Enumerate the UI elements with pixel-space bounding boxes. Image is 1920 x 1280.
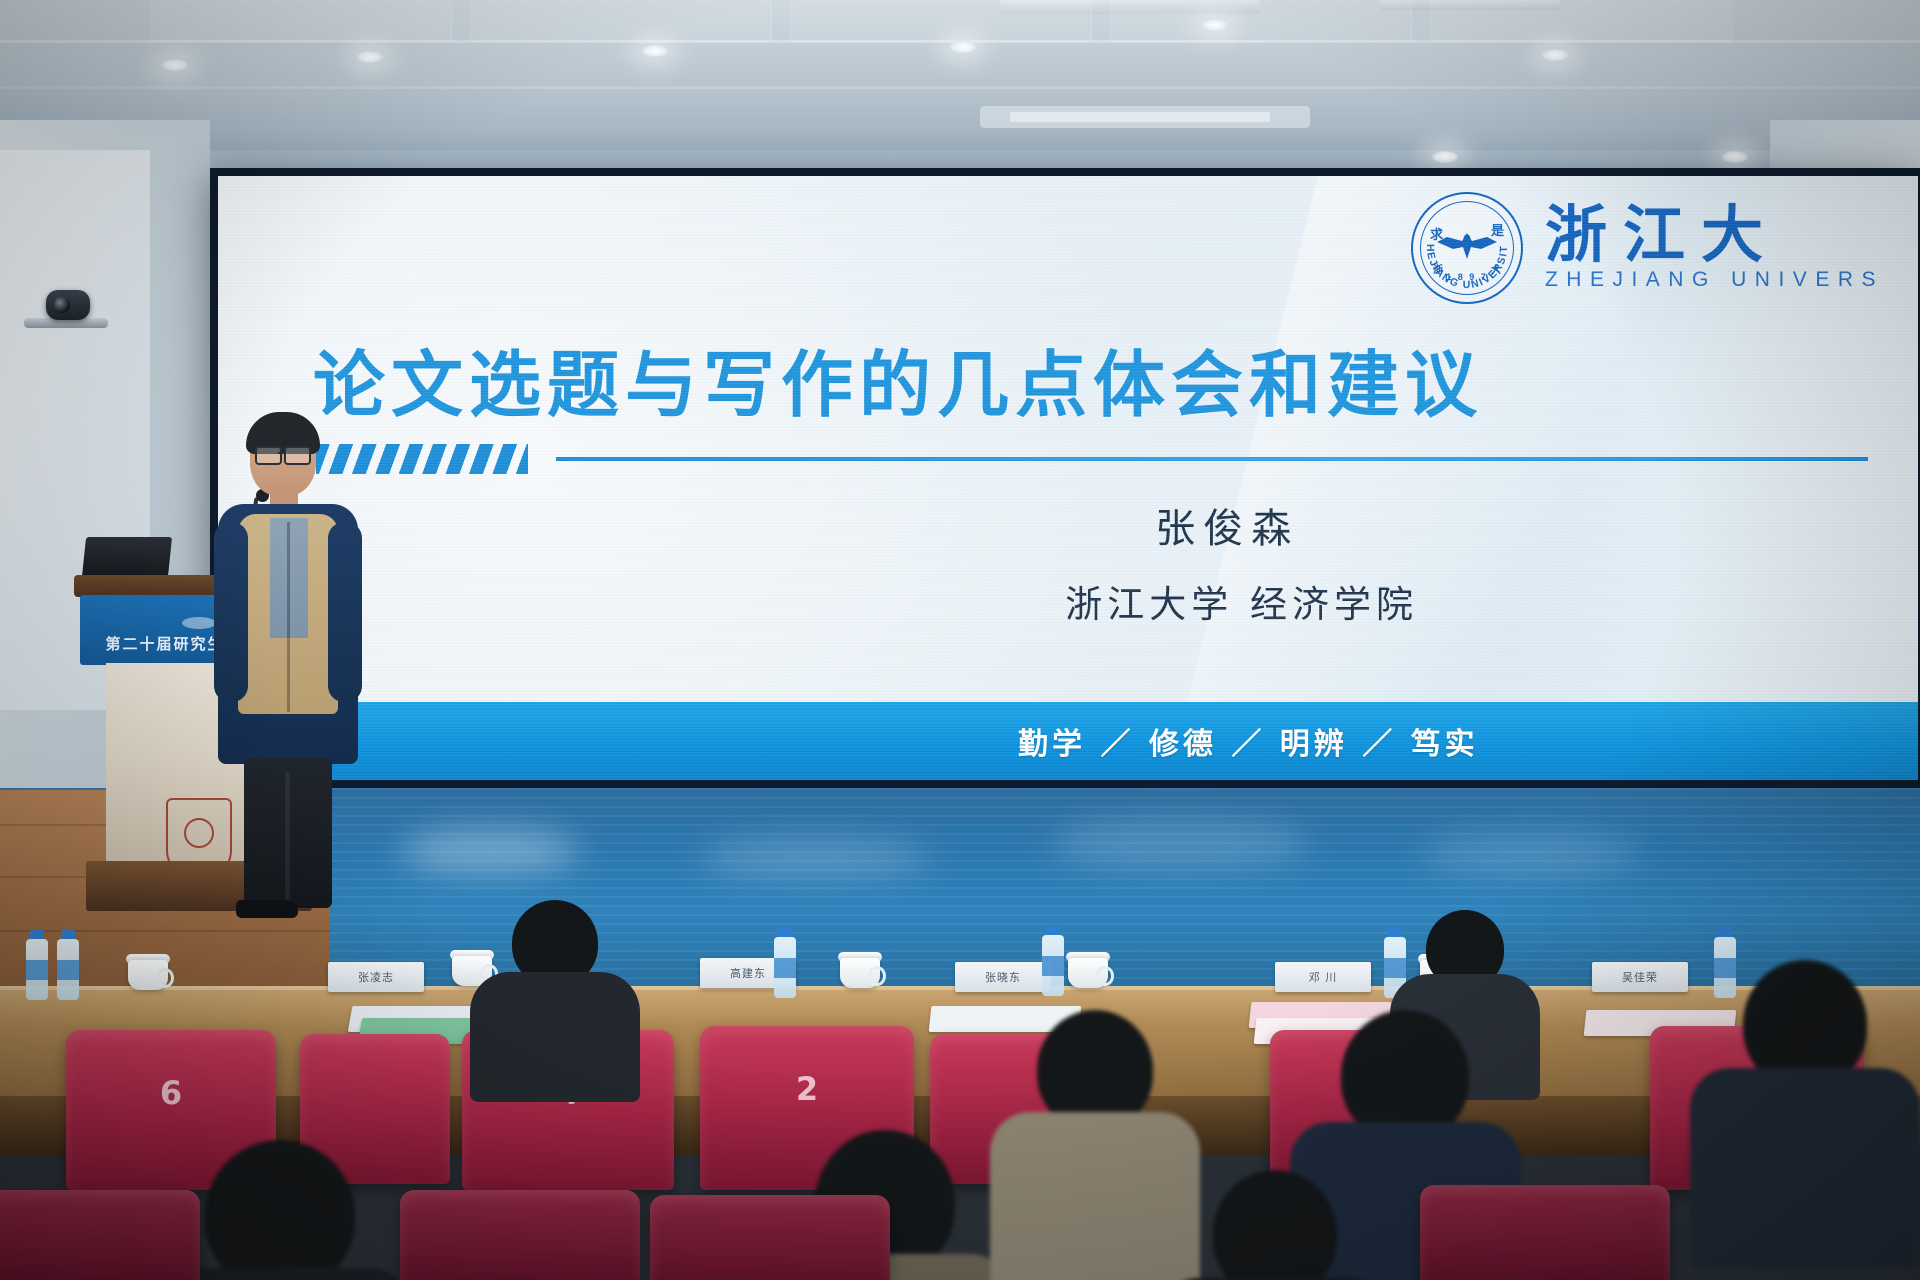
ceiling	[0, 0, 1920, 150]
motto-text: 勤学 ／ 修德 ／ 明辨 ／ 笃实	[1018, 719, 1479, 763]
slide-title: 论文选题与写作的几点体会和建议	[313, 326, 1873, 431]
seat-number: 2	[700, 1070, 914, 1108]
audience-person	[470, 900, 640, 1100]
eyeglasses-icon	[255, 446, 311, 461]
ceiling-downlight	[1200, 18, 1230, 32]
title-underline-row	[316, 441, 1868, 477]
audience-person	[1690, 960, 1920, 1260]
nameplate-label: 张晓东	[985, 969, 1021, 985]
audience-person	[1160, 1170, 1390, 1280]
seal-cn-3: 浙	[1433, 261, 1443, 276]
water-bottle	[1040, 926, 1066, 996]
wordmark-cn: 浙江大	[1545, 204, 1884, 266]
ceiling-downlight	[160, 58, 190, 72]
nameplate: 张凌志	[328, 962, 424, 992]
nameplate: 邓 川	[1275, 962, 1371, 992]
ceiling-downlight	[355, 50, 385, 64]
nameplate: 张晓东	[955, 962, 1051, 992]
presenter-block: 张俊森 浙江大学 经济学院	[1065, 496, 1418, 628]
projection-screen: ZHEJIANG UNIVERSITY 求 是 浙 大 1 8 9 7 浙江大 …	[218, 176, 1918, 780]
horizontal-rule	[556, 457, 1868, 461]
presenter-affiliation: 浙江大学 经济学院	[1065, 574, 1418, 628]
water-bottle	[55, 930, 81, 1000]
ceiling-downlight	[640, 44, 670, 58]
auditorium-seat	[400, 1190, 640, 1280]
wordmark-en: ZHEJIANG UNIVERS	[1545, 268, 1884, 292]
water-bottle	[772, 928, 798, 998]
ceiling-downlight	[948, 40, 978, 54]
security-camera-icon	[24, 290, 108, 332]
zju-eagle-icon	[1435, 229, 1499, 263]
nameplate-label: 高建东	[730, 965, 766, 981]
zju-wordmark: 浙江大 ZHEJIANG UNIVERS	[1545, 204, 1884, 292]
auditorium-seat	[1420, 1185, 1670, 1280]
nameplate-label: 邓 川	[1309, 969, 1338, 985]
seal-year: 1 8 9 7	[1446, 272, 1488, 282]
motto-band: 勤学 ／ 修德 ／ 明辨 ／ 笃实	[218, 702, 1918, 780]
teacup	[840, 950, 886, 990]
zju-logo: ZHEJIANG UNIVERSITY 求 是 浙 大 1 8 9 7 浙江大 …	[1411, 192, 1884, 304]
podium-laptop	[82, 537, 172, 577]
nameplate-label: 张凌志	[358, 969, 394, 985]
water-bottle	[24, 930, 50, 1000]
ceiling-downlight	[1430, 150, 1460, 164]
ceiling-downlight	[1540, 48, 1570, 62]
teacup	[1068, 950, 1114, 990]
ceiling-downlight	[1720, 150, 1750, 164]
podium-emblem-icon	[182, 617, 216, 629]
nameplate: 吴佳荣	[1592, 962, 1688, 992]
speaker-person	[218, 418, 358, 918]
auditorium-seat	[650, 1195, 890, 1280]
zju-seal-icon: ZHEJIANG UNIVERSITY 求 是 浙 大 1 8 9 7	[1411, 192, 1523, 304]
nameplate-label: 吴佳荣	[1622, 969, 1658, 985]
seal-cn-4: 大	[1491, 261, 1501, 276]
auditorium-seat	[0, 1190, 200, 1280]
seat-number: 6	[66, 1074, 276, 1112]
presenter-name: 张俊森	[1065, 496, 1418, 554]
lecture-hall-photo: ZHEJIANG UNIVERSITY 求 是 浙 大 1 8 9 7 浙江大 …	[0, 0, 1920, 1280]
teacup	[128, 952, 174, 992]
